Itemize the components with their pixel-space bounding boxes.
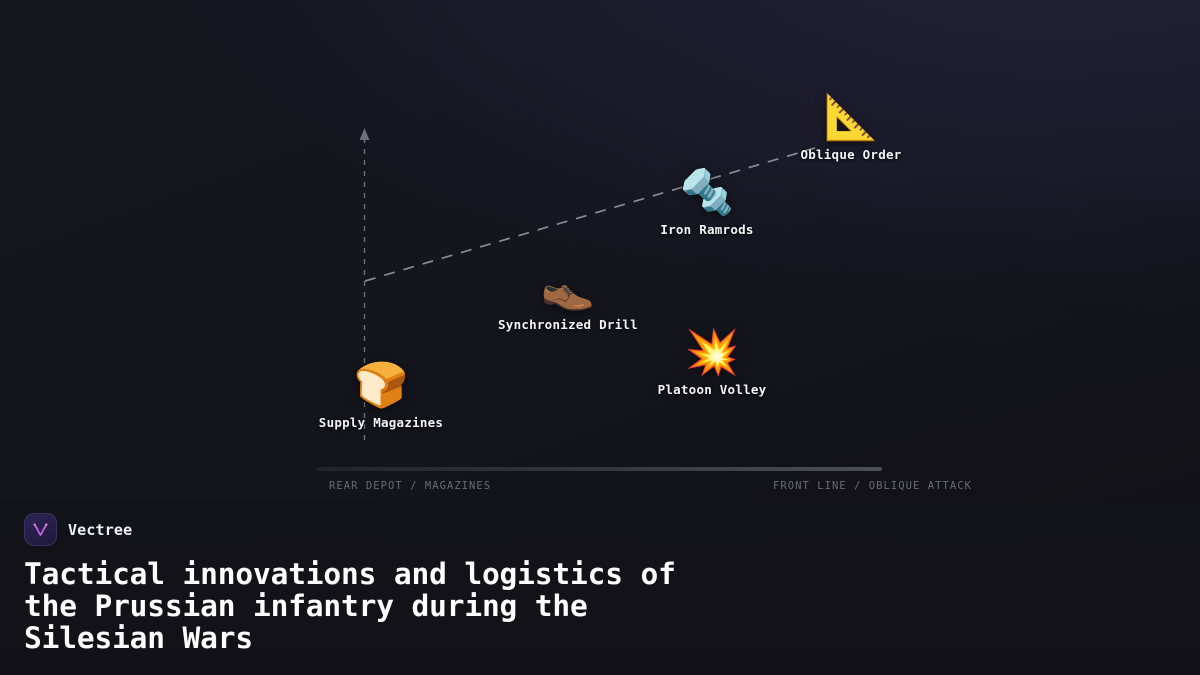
chart-node-label: Iron Ramrods [660,222,753,237]
chart-node[interactable]: 💥Platoon Volley [658,331,767,397]
triangular-ruler-icon: 📐 [824,96,879,140]
collision-icon: 💥 [685,331,740,375]
nut-and-bolt-icon: 🔩 [680,171,735,215]
axis-scale-bar [317,467,882,471]
chart-node-label: Supply Magazines [319,415,443,430]
bread-icon: 🍞 [354,364,409,408]
brand-row[interactable]: Vectree [24,513,1176,546]
vectree-v-glyph-icon [31,520,50,539]
vectree-logo-icon [24,513,57,546]
chart-node[interactable]: 🍞Supply Magazines [319,364,443,430]
chart-node[interactable]: 🔩Iron Ramrods [660,171,753,237]
chart-node-label: Synchronized Drill [498,317,638,332]
brand-name: Vectree [68,521,132,539]
footer: Vectree Tactical innovations and logisti… [0,500,1200,675]
y-axis-arrowhead-icon [360,128,370,140]
axis-caption-right: FRONT LINE / OBLIQUE ATTACK [773,480,972,492]
shoe-icon: 👞 [541,266,596,310]
chart-node[interactable]: 👞Synchronized Drill [498,266,638,332]
chart-node-label: Platoon Volley [658,382,767,397]
chart-canvas: 🍞Supply Magazines👞Synchronized Drill💥Pla… [0,0,1200,500]
axis-caption-left: REAR DEPOT / MAGAZINES [329,480,491,492]
chart-svg [0,0,1200,500]
chart-node[interactable]: 📐Oblique Order [800,96,901,162]
chart-node-label: Oblique Order [800,147,901,162]
page-title: Tactical innovations and logistics of th… [24,558,854,654]
